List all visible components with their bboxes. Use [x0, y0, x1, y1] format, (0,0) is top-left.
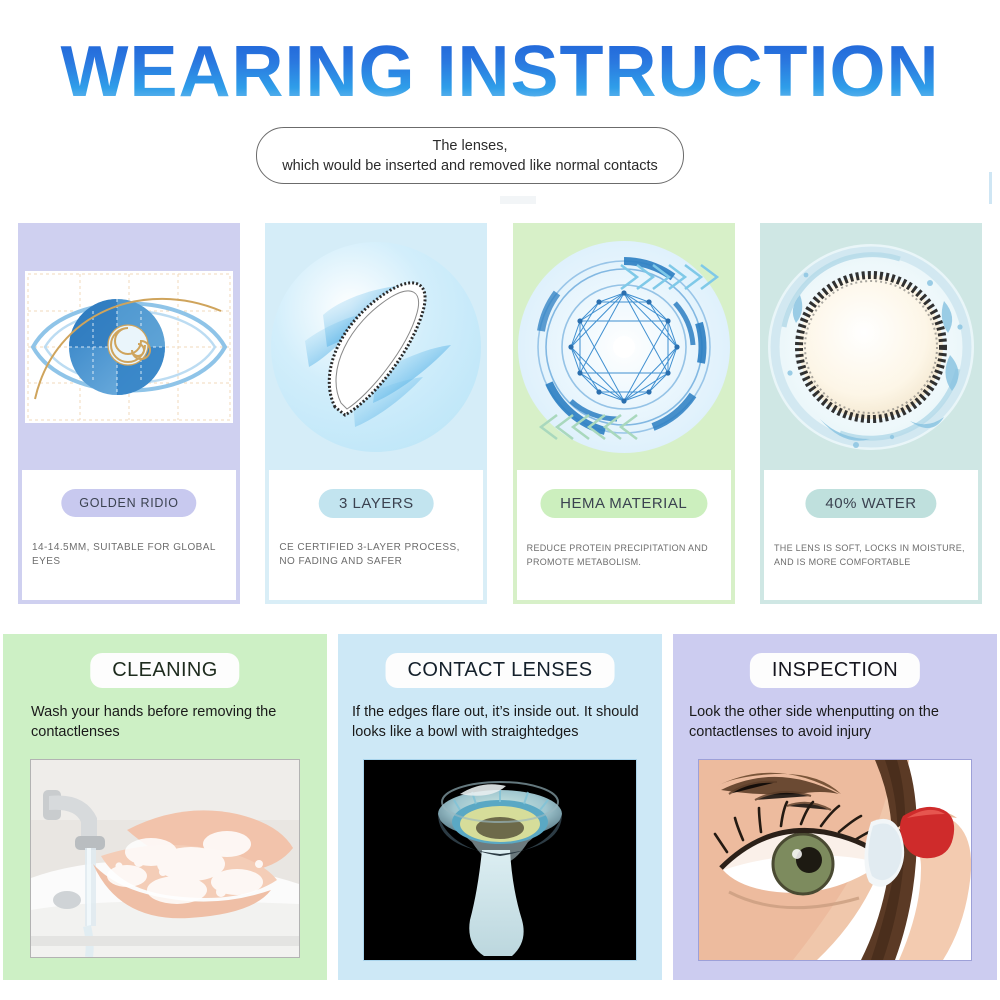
- step-panel-contact-lenses: CONTACT LENSES If the edges flare out, i…: [338, 634, 662, 980]
- feature-card-golden-ratio: GOLDEN RIDIO 14-14.5MM, SUITABLE FOR GLO…: [18, 223, 240, 604]
- feature-card-water: 40% WATER THE LENS IS SOFT, LOCKS IN MOI…: [760, 223, 982, 604]
- callout-line-1: The lenses,: [433, 136, 508, 156]
- feature-card-body: 3 LAYERS CE CERTIFIED 3-LAYER PROCESS, N…: [269, 470, 483, 600]
- feature-description: 14-14.5MM, SUITABLE FOR GLOBAL EYES: [32, 541, 228, 569]
- callout-box: The lenses, which would be inserted and …: [256, 127, 684, 184]
- feature-description: CE CERTIFIED 3-LAYER PROCESS, NO FADING …: [279, 541, 475, 569]
- step-text: Wash your hands before removing the cont…: [31, 702, 309, 742]
- feature-badge: 40% WATER: [805, 489, 936, 518]
- infographic-page: WEARING INSTRUCTION The lenses, which wo…: [0, 0, 1000, 1000]
- golden-ratio-eye-icon: [18, 223, 240, 470]
- step-panel-inspection: INSPECTION Look the other side whenputti…: [673, 634, 997, 980]
- feature-card-row: GOLDEN RIDIO 14-14.5MM, SUITABLE FOR GLO…: [18, 223, 982, 604]
- hands-washing-photo: [30, 759, 300, 958]
- feature-card-body: HEMA MATERIAL REDUCE PROTEIN PRECIPITATI…: [517, 470, 731, 600]
- water-lens-icon: [760, 223, 982, 470]
- feature-badge: 3 LAYERS: [319, 489, 434, 518]
- feature-badge: HEMA MATERIAL: [540, 489, 707, 518]
- step-text: If the edges flare out, it’s inside out.…: [352, 702, 652, 742]
- feature-card-body: 40% WATER THE LENS IS SOFT, LOCKS IN MOI…: [764, 470, 978, 600]
- feature-card-body: GOLDEN RIDIO 14-14.5MM, SUITABLE FOR GLO…: [22, 470, 236, 600]
- step-label: CLEANING: [90, 653, 239, 688]
- folded-lens-icon: [265, 223, 487, 470]
- step-panel-row: CLEANING Wash your hands before removing…: [3, 634, 997, 980]
- feature-card-hema: HEMA MATERIAL REDUCE PROTEIN PRECIPITATI…: [513, 223, 735, 604]
- feature-description: REDUCE PROTEIN PRECIPITATION AND PROMOTE…: [527, 541, 723, 569]
- eye-inserting-lens-photo: [698, 759, 972, 961]
- feature-description: THE LENS IS SOFT, LOCKS IN MOISTURE, AND…: [774, 541, 970, 569]
- step-text: Look the other side whenputting on the c…: [689, 702, 987, 742]
- step-label: CONTACT LENSES: [386, 653, 615, 688]
- page-title: WEARING INSTRUCTION: [0, 36, 1000, 108]
- lens-on-fingertip-photo: [363, 759, 637, 961]
- right-edge-accent-line: [989, 172, 992, 204]
- feature-badge: GOLDEN RIDIO: [61, 489, 196, 517]
- artifact-mark: [500, 196, 536, 204]
- callout-line-2: which would be inserted and removed like…: [282, 156, 658, 176]
- step-panel-cleaning: CLEANING Wash your hands before removing…: [3, 634, 327, 980]
- tech-circle-icon: [513, 223, 735, 470]
- feature-card-three-layers: 3 LAYERS CE CERTIFIED 3-LAYER PROCESS, N…: [265, 223, 487, 604]
- step-label: INSPECTION: [750, 653, 920, 688]
